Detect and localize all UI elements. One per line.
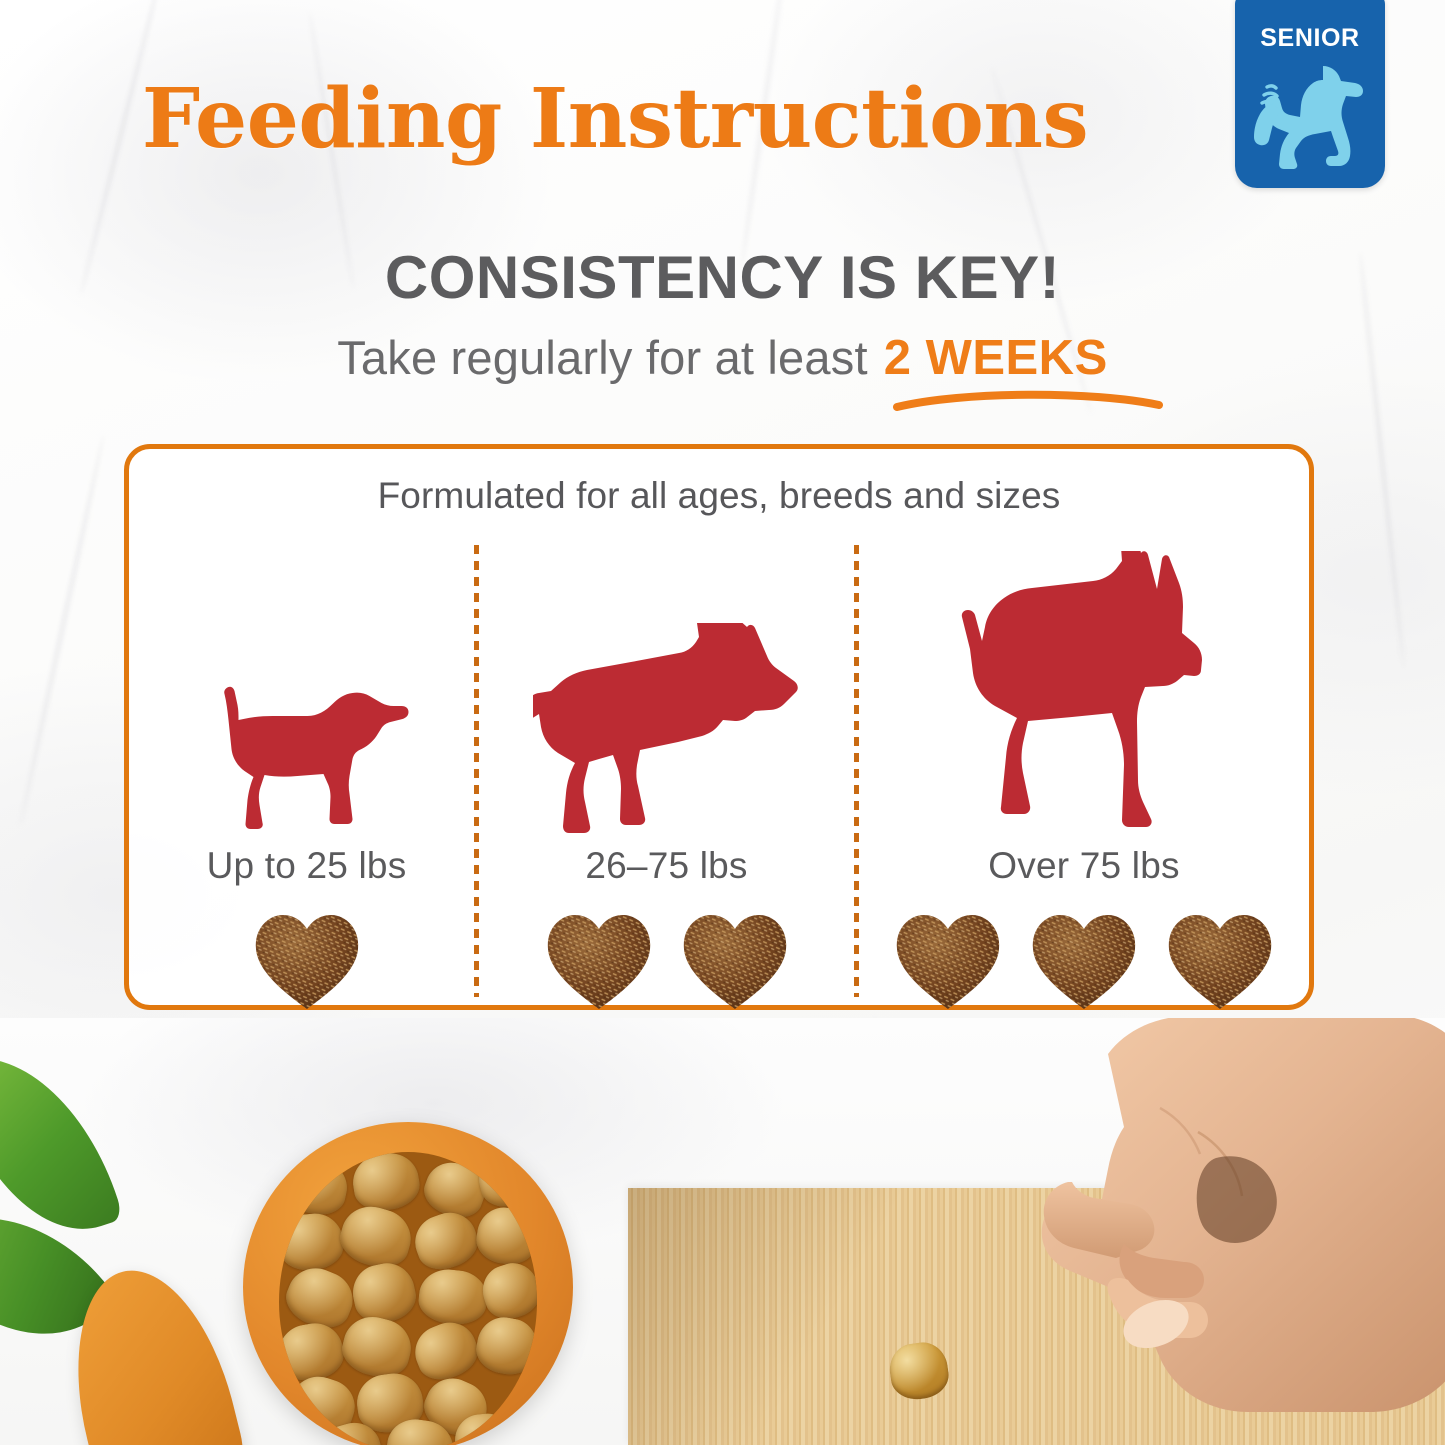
- heart-treat-icon: [678, 909, 792, 1013]
- feeding-instructions-infographic: SENIOR Feeding Instructions CONSISTENCY …: [0, 0, 1445, 1445]
- dog-illustration-slot: [139, 545, 474, 841]
- card-caption: Formulated for all ages, breeds and size…: [129, 475, 1309, 517]
- underline-swoosh-icon: [893, 386, 1163, 412]
- small-dog-silhouette-icon: [204, 681, 409, 841]
- weight-label-medium: 26–75 lbs: [479, 845, 854, 887]
- feeding-chart-card: Formulated for all ages, breeds and size…: [124, 444, 1314, 1010]
- medium-dog-silhouette-icon: [533, 623, 801, 841]
- heart-treat-icon: [250, 909, 364, 1013]
- large-dog-silhouette-icon: [935, 551, 1233, 841]
- treat-row-large: [859, 909, 1309, 1013]
- dog-food-bowl: [243, 1122, 573, 1445]
- bowl-interior: [279, 1152, 537, 1445]
- size-column-small: Up to 25 lbs: [139, 545, 474, 1005]
- product-photo-scene: [0, 1018, 1445, 1445]
- marble-vein: [18, 434, 105, 826]
- heart-treat-icon: [891, 909, 1005, 1013]
- sitting-dog-icon: [1249, 56, 1373, 174]
- senior-badge-label: SENIOR: [1235, 24, 1385, 53]
- treat-row-small: [139, 909, 474, 1013]
- marble-vein: [1358, 251, 1406, 669]
- weight-label-large: Over 75 lbs: [859, 845, 1309, 887]
- heart-treat-icon: [1027, 909, 1141, 1013]
- hand-holding-treat: [948, 1018, 1445, 1412]
- tagline-prefix: Take regularly for at least: [337, 331, 867, 384]
- dog-illustration-slot: [479, 545, 854, 841]
- weight-label-small: Up to 25 lbs: [139, 845, 474, 887]
- size-column-medium: 26–75 lbs: [479, 545, 854, 1005]
- heart-treat-icon: [542, 909, 656, 1013]
- dog-illustration-slot: [859, 545, 1309, 841]
- heart-treat-icon: [1163, 909, 1277, 1013]
- page-title: Feeding Instructions: [0, 78, 1230, 160]
- subtitle-heading: CONSISTENCY IS KEY!: [0, 243, 1445, 312]
- size-column-large: Over 75 lbs: [859, 545, 1309, 1005]
- tagline-emphasis: 2 WEEKS: [884, 331, 1108, 385]
- senior-badge: SENIOR: [1235, 0, 1385, 188]
- treat-row-medium: [479, 909, 854, 1013]
- tagline: Take regularly for at least2 WEEKS: [0, 330, 1445, 386]
